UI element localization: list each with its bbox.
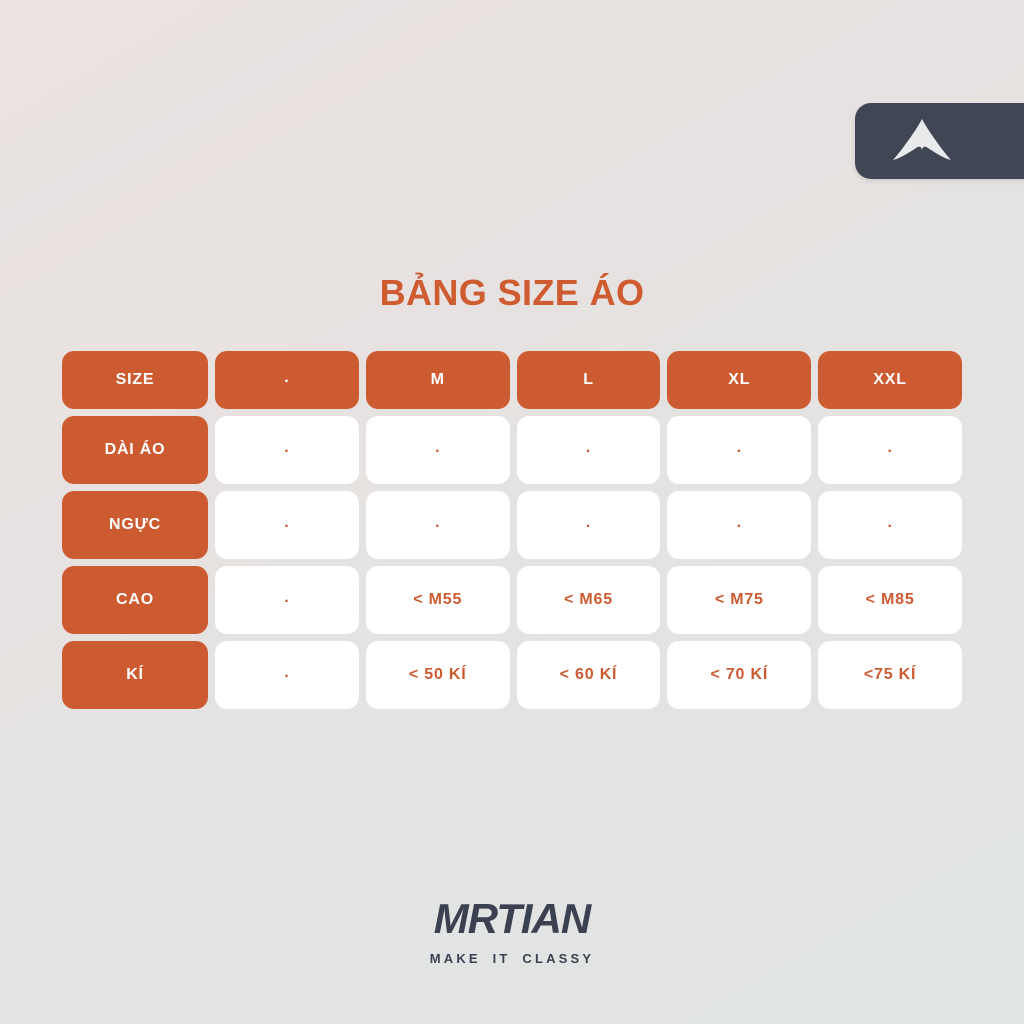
- cell-nguc-m: .: [366, 491, 510, 559]
- column-header-s: .: [215, 351, 359, 409]
- row-label-dai-ao: DÀI ÁO: [62, 416, 208, 484]
- cell-nguc-l: .: [517, 491, 661, 559]
- cell-dai-ao-xl: .: [667, 416, 811, 484]
- cell-ki-m: < 50 KÍ: [366, 641, 510, 709]
- cell-nguc-xxl: .: [818, 491, 962, 559]
- cell-dai-ao-xxl: .: [818, 416, 962, 484]
- table-row: DÀI ÁO . . . . .: [62, 416, 962, 484]
- cell-cao-xl: < M75: [667, 566, 811, 634]
- cell-ki-xxl: <75 KÍ: [818, 641, 962, 709]
- table-row: CAO . < M55 < M65 < M75 < M85: [62, 566, 962, 634]
- cell-cao-s: .: [215, 566, 359, 634]
- table-row: KÍ . < 50 KÍ < 60 KÍ < 70 KÍ <75 KÍ: [62, 641, 962, 709]
- brand-name: MRTIAN: [0, 896, 1024, 942]
- column-header-xl: XL: [667, 351, 811, 409]
- column-header-size: SIZE: [62, 351, 208, 409]
- row-label-nguc: NGỰC: [62, 491, 208, 559]
- page-title: BẢNG SIZE ÁO: [0, 272, 1024, 314]
- cell-cao-l: < M65: [517, 566, 661, 634]
- cell-cao-xxl: < M85: [818, 566, 962, 634]
- cell-nguc-xl: .: [667, 491, 811, 559]
- brand-lockup: MRTIAN MAKE IT CLASSY: [0, 896, 1024, 966]
- column-header-l: L: [517, 351, 661, 409]
- brand-tagline: MAKE IT CLASSY: [0, 951, 1024, 966]
- size-chart-table: SIZE . M L XL XXL DÀI ÁO . . . . . NGỰC …: [62, 351, 962, 716]
- cell-nguc-s: .: [215, 491, 359, 559]
- cell-ki-xl: < 70 KÍ: [667, 641, 811, 709]
- table-row: NGỰC . . . . .: [62, 491, 962, 559]
- cell-ki-s: .: [215, 641, 359, 709]
- cell-dai-ao-m: .: [366, 416, 510, 484]
- table-header-row: SIZE . M L XL XXL: [62, 351, 962, 409]
- cell-dai-ao-l: .: [517, 416, 661, 484]
- row-label-cao: CAO: [62, 566, 208, 634]
- column-header-m: M: [366, 351, 510, 409]
- row-label-ki: KÍ: [62, 641, 208, 709]
- cell-dai-ao-s: .: [215, 416, 359, 484]
- corner-brand-badge: [855, 103, 1024, 179]
- mountain-logo-mark-icon: [889, 117, 955, 165]
- column-header-xxl: XXL: [818, 351, 962, 409]
- cell-cao-m: < M55: [366, 566, 510, 634]
- cell-ki-l: < 60 KÍ: [517, 641, 661, 709]
